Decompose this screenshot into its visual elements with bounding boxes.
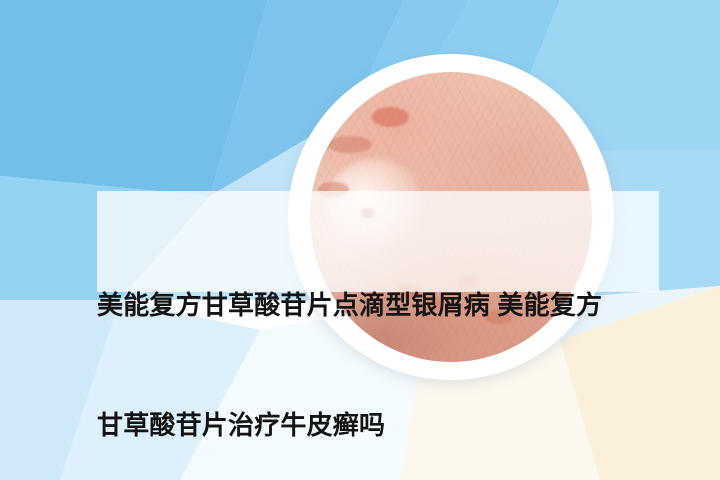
- caption-line-2: 甘草酸苷片治疗牛皮癣吗: [97, 405, 659, 445]
- lesion-spot: [327, 136, 372, 153]
- promo-image-canvas: 美能复方甘草酸苷片点滴型银屑病 美能复方 甘草酸苷片治疗牛皮癣吗: [0, 0, 720, 480]
- lesion-spot: [372, 107, 409, 127]
- caption-text: 美能复方甘草酸苷片点滴型银屑病 美能复方 甘草酸苷片治疗牛皮癣吗: [97, 191, 659, 292]
- caption-line-1: 美能复方甘草酸苷片点滴型银屑病 美能复方: [97, 285, 659, 325]
